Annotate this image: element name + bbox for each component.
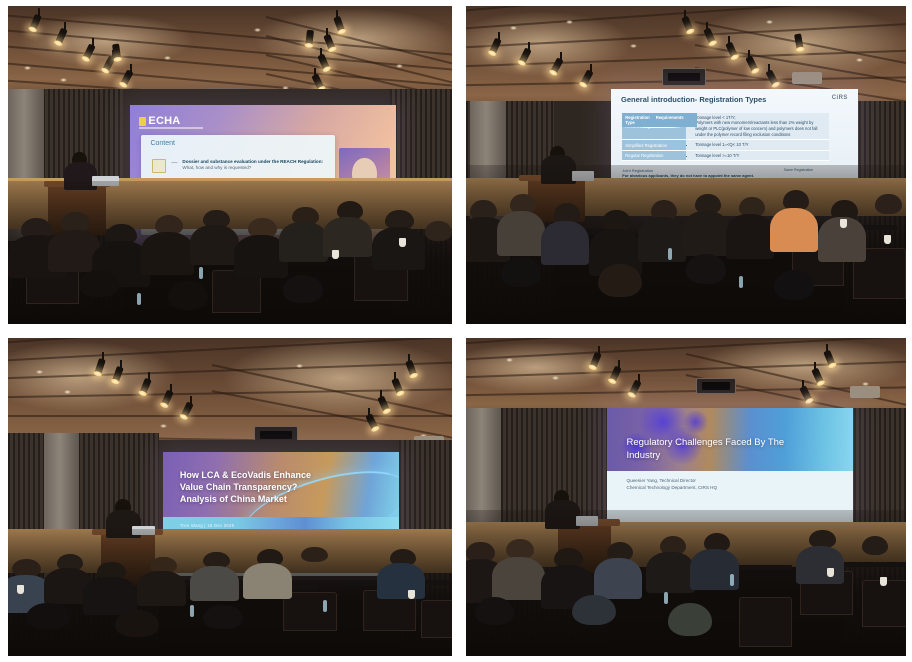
table-row: Regular Registration Tonnage level >=10 … <box>622 151 829 162</box>
table-header-req: Requirements <box>653 113 698 127</box>
audience <box>8 181 452 324</box>
photo-top-right: General introduction- Registration Types… <box>466 6 906 324</box>
ceiling-projector <box>662 68 706 86</box>
track-light-icon <box>311 73 324 90</box>
audience <box>466 165 906 324</box>
echa-mark-icon <box>139 117 146 126</box>
slide-heading: Content <box>150 140 175 147</box>
table-header-row: Registration Type Requirements <box>622 113 697 128</box>
audience <box>466 510 906 656</box>
ceiling-projector <box>696 378 736 394</box>
echa-brand-text: ECHA <box>148 115 180 127</box>
row-requirements: Tonnage level < 1T/Y; Polymers with new … <box>686 113 829 139</box>
projector-mount <box>850 386 880 398</box>
registration-types-table: Registration Type Requirements Record Fi… <box>622 113 829 162</box>
table-header-type: Registration Type <box>622 113 652 127</box>
table-row: Simplified Registration Tonnage level 1=… <box>622 140 829 151</box>
bullet-text: Dossier and substance evaluation under t… <box>182 159 323 172</box>
row-requirements: Tonnage level 1=<Q< 10 T/Y <box>686 140 829 150</box>
auditorium-scene: Regulatory Challenges Faced By The Indus… <box>466 338 906 656</box>
auditorium-scene: ECHA Content — Dossier and substance eva… <box>8 6 452 324</box>
auditorium-scene: How LCA & EcoVadis Enhance Value Chain T… <box>8 338 452 656</box>
row-type: Simplified Registration <box>622 140 686 150</box>
row-type: Regular Registration <box>622 151 686 161</box>
slide-author: Tree Wang | 18 Dec 2025 <box>180 523 234 528</box>
photo-bottom-left: How LCA & EcoVadis Enhance Value Chain T… <box>8 338 452 656</box>
slide-title: How LCA & EcoVadis Enhance Value Chain T… <box>180 469 326 505</box>
track-light-icon <box>629 379 642 396</box>
document-icon <box>152 159 166 173</box>
bullet-item: — Dossier and substance evaluation under… <box>152 159 323 173</box>
slide-subtitle: Queenier Yang, Technical Director Chemic… <box>627 477 718 491</box>
slide-title: General introduction- Registration Types <box>621 95 766 104</box>
audience <box>8 529 452 656</box>
projector-mount <box>792 72 822 84</box>
photo-top-left: ECHA Content — Dossier and substance eva… <box>8 6 452 324</box>
row-requirements: Tonnage level >=10 T/Y <box>686 151 829 161</box>
cirs-logo: CiRS <box>832 95 848 101</box>
photo-collage: ECHA Content — Dossier and substance eva… <box>0 0 912 662</box>
slide-title: Regulatory Challenges Faced By The Indus… <box>627 437 814 462</box>
auditorium-scene: General introduction- Registration Types… <box>466 6 906 324</box>
bullet-dash: — <box>171 159 177 167</box>
photo-bottom-right: Regulatory Challenges Faced By The Indus… <box>466 338 906 656</box>
echa-tagline-rule <box>139 127 203 129</box>
